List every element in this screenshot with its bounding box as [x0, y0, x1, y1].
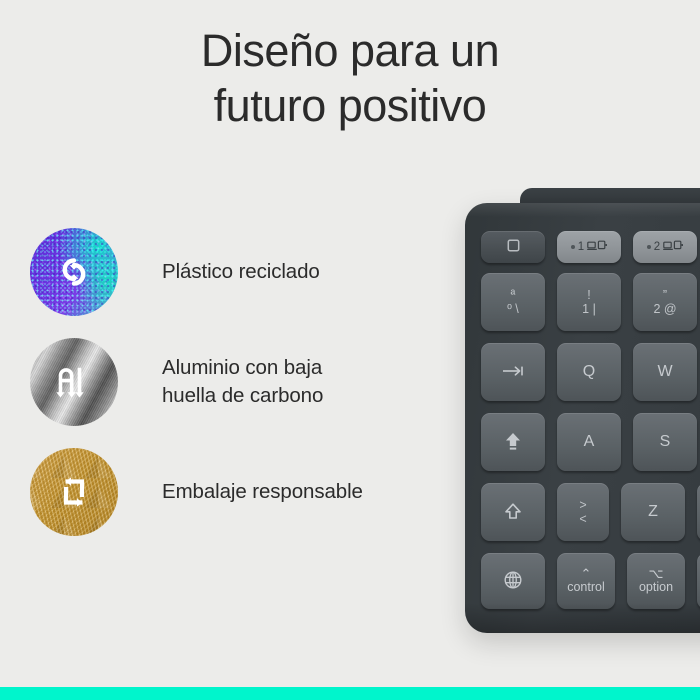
option-symbol-icon: ⌥ [649, 567, 664, 581]
key-control[interactable]: ⌃ control [557, 553, 615, 609]
keyboard-row-modifier: ⌃ control ⌥ option [481, 553, 700, 609]
key-s[interactable]: S [633, 413, 697, 471]
key-esc[interactable] [481, 231, 545, 263]
key-label-option: option [639, 581, 673, 595]
feature-label-low-carbon-aluminium: Aluminio con baja huella de carbono [162, 338, 323, 426]
key-a[interactable]: A [557, 413, 621, 471]
key-legend-bottom: < [579, 512, 586, 526]
key-option[interactable]: ⌥ option [627, 553, 685, 609]
aluminium-al-arrows-icon [30, 338, 118, 426]
device-status-dot [647, 245, 651, 249]
promo-stage: Diseño para un futuro positivo [0, 0, 700, 700]
caps-lock-arrow-icon [503, 430, 523, 455]
globe-icon [503, 570, 523, 593]
feature-item-recycled-plastic: Plástico reciclado [30, 228, 450, 338]
key-legend-bottom: 1 | [582, 302, 596, 316]
packaging-recycle-square-icon [30, 448, 118, 536]
square-icon [507, 239, 520, 255]
key-label-f1: 1 [578, 241, 584, 253]
device-switch-icon [663, 240, 683, 254]
feature-item-responsible-packaging: Embalaje responsable [30, 448, 450, 558]
keyboard-row-tab: Q W [481, 343, 700, 401]
key-legend-top: ” [663, 288, 667, 302]
badge-low-carbon-aluminium [30, 338, 118, 426]
key-z[interactable]: Z [621, 483, 685, 541]
key-two[interactable]: ” 2 @ [633, 273, 697, 331]
key-label-f2: 2 [654, 241, 660, 253]
key-label-control: control [567, 581, 605, 595]
keyboard-row-number: ª º \ ! 1 | ” 2 @ [481, 273, 700, 331]
key-shift[interactable] [481, 483, 545, 541]
key-q[interactable]: Q [557, 343, 621, 401]
key-angle-brackets[interactable]: > < [557, 483, 609, 541]
key-legend-bottom: º \ [507, 302, 519, 316]
recycle-loop-icon [30, 228, 118, 316]
key-tab[interactable] [481, 343, 545, 401]
key-legend-top: ª [511, 288, 516, 302]
key-legend-bottom: 2 @ [653, 302, 676, 316]
key-f1-device-1[interactable]: 1 [557, 231, 621, 263]
shift-arrow-icon [503, 501, 523, 524]
keyboard-row-home: A S [481, 413, 700, 471]
keyboard-row-shift: > < Z [481, 483, 700, 541]
accent-bar [0, 687, 700, 700]
device-switch-icon [587, 240, 607, 254]
key-ordinal[interactable]: ª º \ [481, 273, 545, 331]
key-f2-device-2[interactable]: 2 [633, 231, 697, 263]
key-globe[interactable] [481, 553, 545, 609]
keyboard-top-bevel [465, 203, 700, 217]
feature-item-low-carbon-aluminium: Aluminio con baja huella de carbono [30, 338, 450, 448]
control-caret-icon: ⌃ [581, 567, 592, 581]
key-caps-lock[interactable] [481, 413, 545, 471]
tab-arrow-icon [502, 364, 524, 380]
key-legend-top: > [579, 498, 586, 512]
key-legend-top: ! [587, 288, 590, 302]
feature-list: Plástico reciclado [30, 228, 450, 558]
badge-responsible-packaging [30, 448, 118, 536]
feature-label-responsible-packaging: Embalaje responsable [162, 448, 363, 536]
device-status-dot [571, 245, 575, 249]
keyboard-row-function: 1 2 [481, 231, 700, 263]
badge-recycled-plastic [30, 228, 118, 316]
key-w[interactable]: W [633, 343, 697, 401]
keyboard-product-image: 1 2 [465, 203, 700, 633]
page-title: Diseño para un futuro positivo [0, 24, 700, 134]
feature-label-recycled-plastic: Plástico reciclado [162, 228, 320, 316]
key-one[interactable]: ! 1 | [557, 273, 621, 331]
